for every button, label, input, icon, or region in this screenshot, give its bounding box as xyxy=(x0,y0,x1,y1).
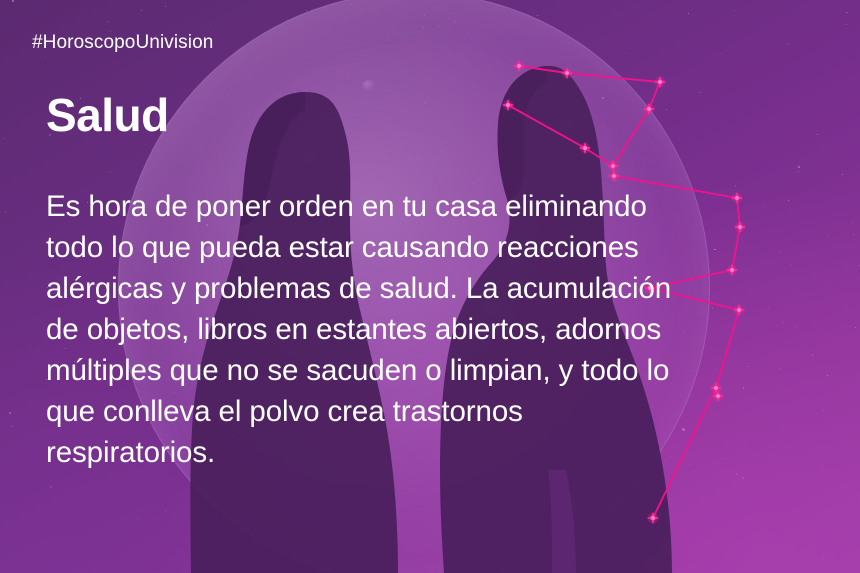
body-text-line: que conlleva el polvo crea trastornos xyxy=(46,391,786,432)
constellation-star xyxy=(561,67,573,79)
body-text-line: múltiples que no se sacuden o limpian, y… xyxy=(46,350,786,391)
constellation-line xyxy=(519,66,567,73)
constellation-star xyxy=(643,103,655,115)
constellation-star xyxy=(579,142,591,154)
horoscope-body-text: Es hora de poner orden en tu casa elimin… xyxy=(46,186,786,473)
constellation-star xyxy=(647,512,659,524)
constellation-line xyxy=(613,109,649,166)
body-text-line: todo lo que pueda estar causando reaccio… xyxy=(46,227,786,268)
page-title: Salud xyxy=(46,92,169,138)
body-text-line: Es hora de poner orden en tu casa elimin… xyxy=(46,186,786,227)
constellation-line xyxy=(567,73,660,82)
body-text-line: alérgicas y problemas de salud. La acumu… xyxy=(46,268,786,309)
body-text-line: respiratorios. xyxy=(46,432,786,473)
constellation-star xyxy=(607,160,619,172)
constellation-star xyxy=(502,99,514,111)
constellation-star xyxy=(654,76,666,88)
constellation-star xyxy=(608,170,620,182)
constellation-star xyxy=(513,60,525,72)
constellation-line xyxy=(508,105,585,148)
body-text-line: de objetos, libros en estantes abiertos,… xyxy=(46,309,786,350)
hashtag-label: #HoroscopoUnivision xyxy=(32,32,213,54)
horoscope-card: #HoroscopoUnivision Salud Es hora de pon… xyxy=(0,0,860,573)
